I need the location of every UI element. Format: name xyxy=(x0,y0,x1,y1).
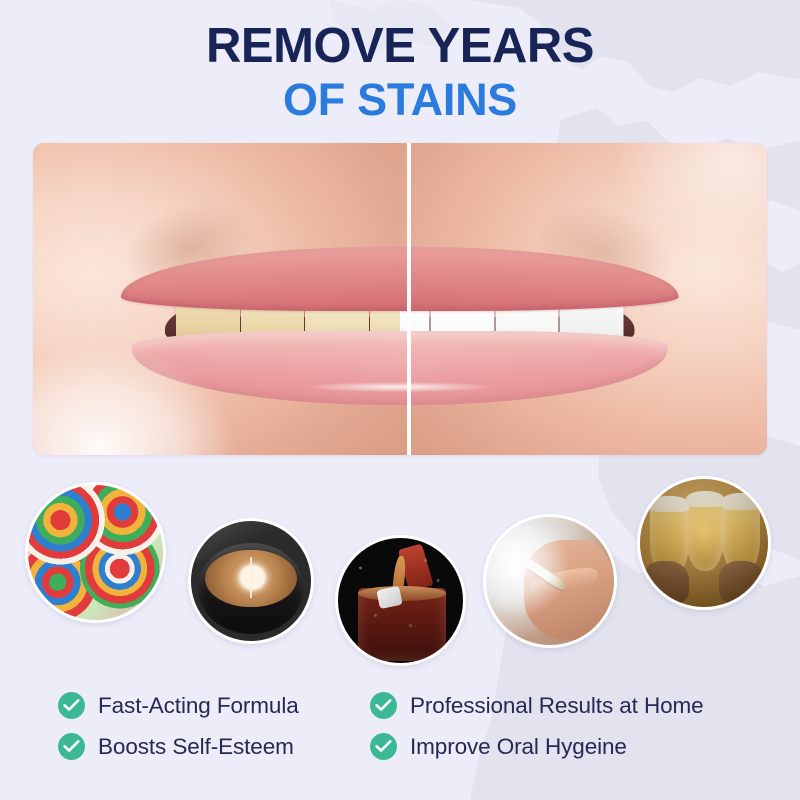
benefit-label: Fast-Acting Formula xyxy=(98,693,299,719)
check-circle-icon xyxy=(370,692,397,719)
photo-highlight-after xyxy=(532,143,767,311)
cause-circle-candy xyxy=(25,482,166,623)
benefit-label: Improve Oral Hygeine xyxy=(410,734,627,760)
benefit-item: Professional Results at Home xyxy=(370,692,758,719)
headline-line-1: REMOVE YEARS xyxy=(0,22,800,71)
before-after-smile-photo xyxy=(33,143,767,455)
cause-circle-smoking xyxy=(483,514,617,648)
benefit-item: Fast-Acting Formula xyxy=(58,692,370,719)
lower-lip-after xyxy=(400,331,668,405)
before-after-divider xyxy=(407,143,411,455)
check-circle-icon xyxy=(370,733,397,760)
before-half xyxy=(33,143,400,455)
after-half xyxy=(400,143,767,455)
headline-line-2: OF STAINS xyxy=(0,77,800,122)
benefit-item: Boosts Self-Esteem xyxy=(58,733,370,760)
benefit-label: Boosts Self-Esteem xyxy=(98,734,294,760)
lip-highlight-after xyxy=(400,381,531,393)
benefits-list: Fast-Acting Formula Professional Results… xyxy=(58,692,758,760)
promo-poster: REMOVE YEARS OF STAINS xyxy=(0,0,800,800)
check-circle-icon xyxy=(58,692,85,719)
cause-circle-coffee xyxy=(188,518,314,644)
benefit-item: Improve Oral Hygeine xyxy=(370,733,758,760)
cause-circle-beer xyxy=(637,476,771,610)
cause-circle-cola xyxy=(335,535,466,666)
headline: REMOVE YEARS OF STAINS xyxy=(0,22,800,122)
photo-highlight-before xyxy=(33,280,305,455)
check-circle-icon xyxy=(58,733,85,760)
benefit-label: Professional Results at Home xyxy=(410,693,704,719)
